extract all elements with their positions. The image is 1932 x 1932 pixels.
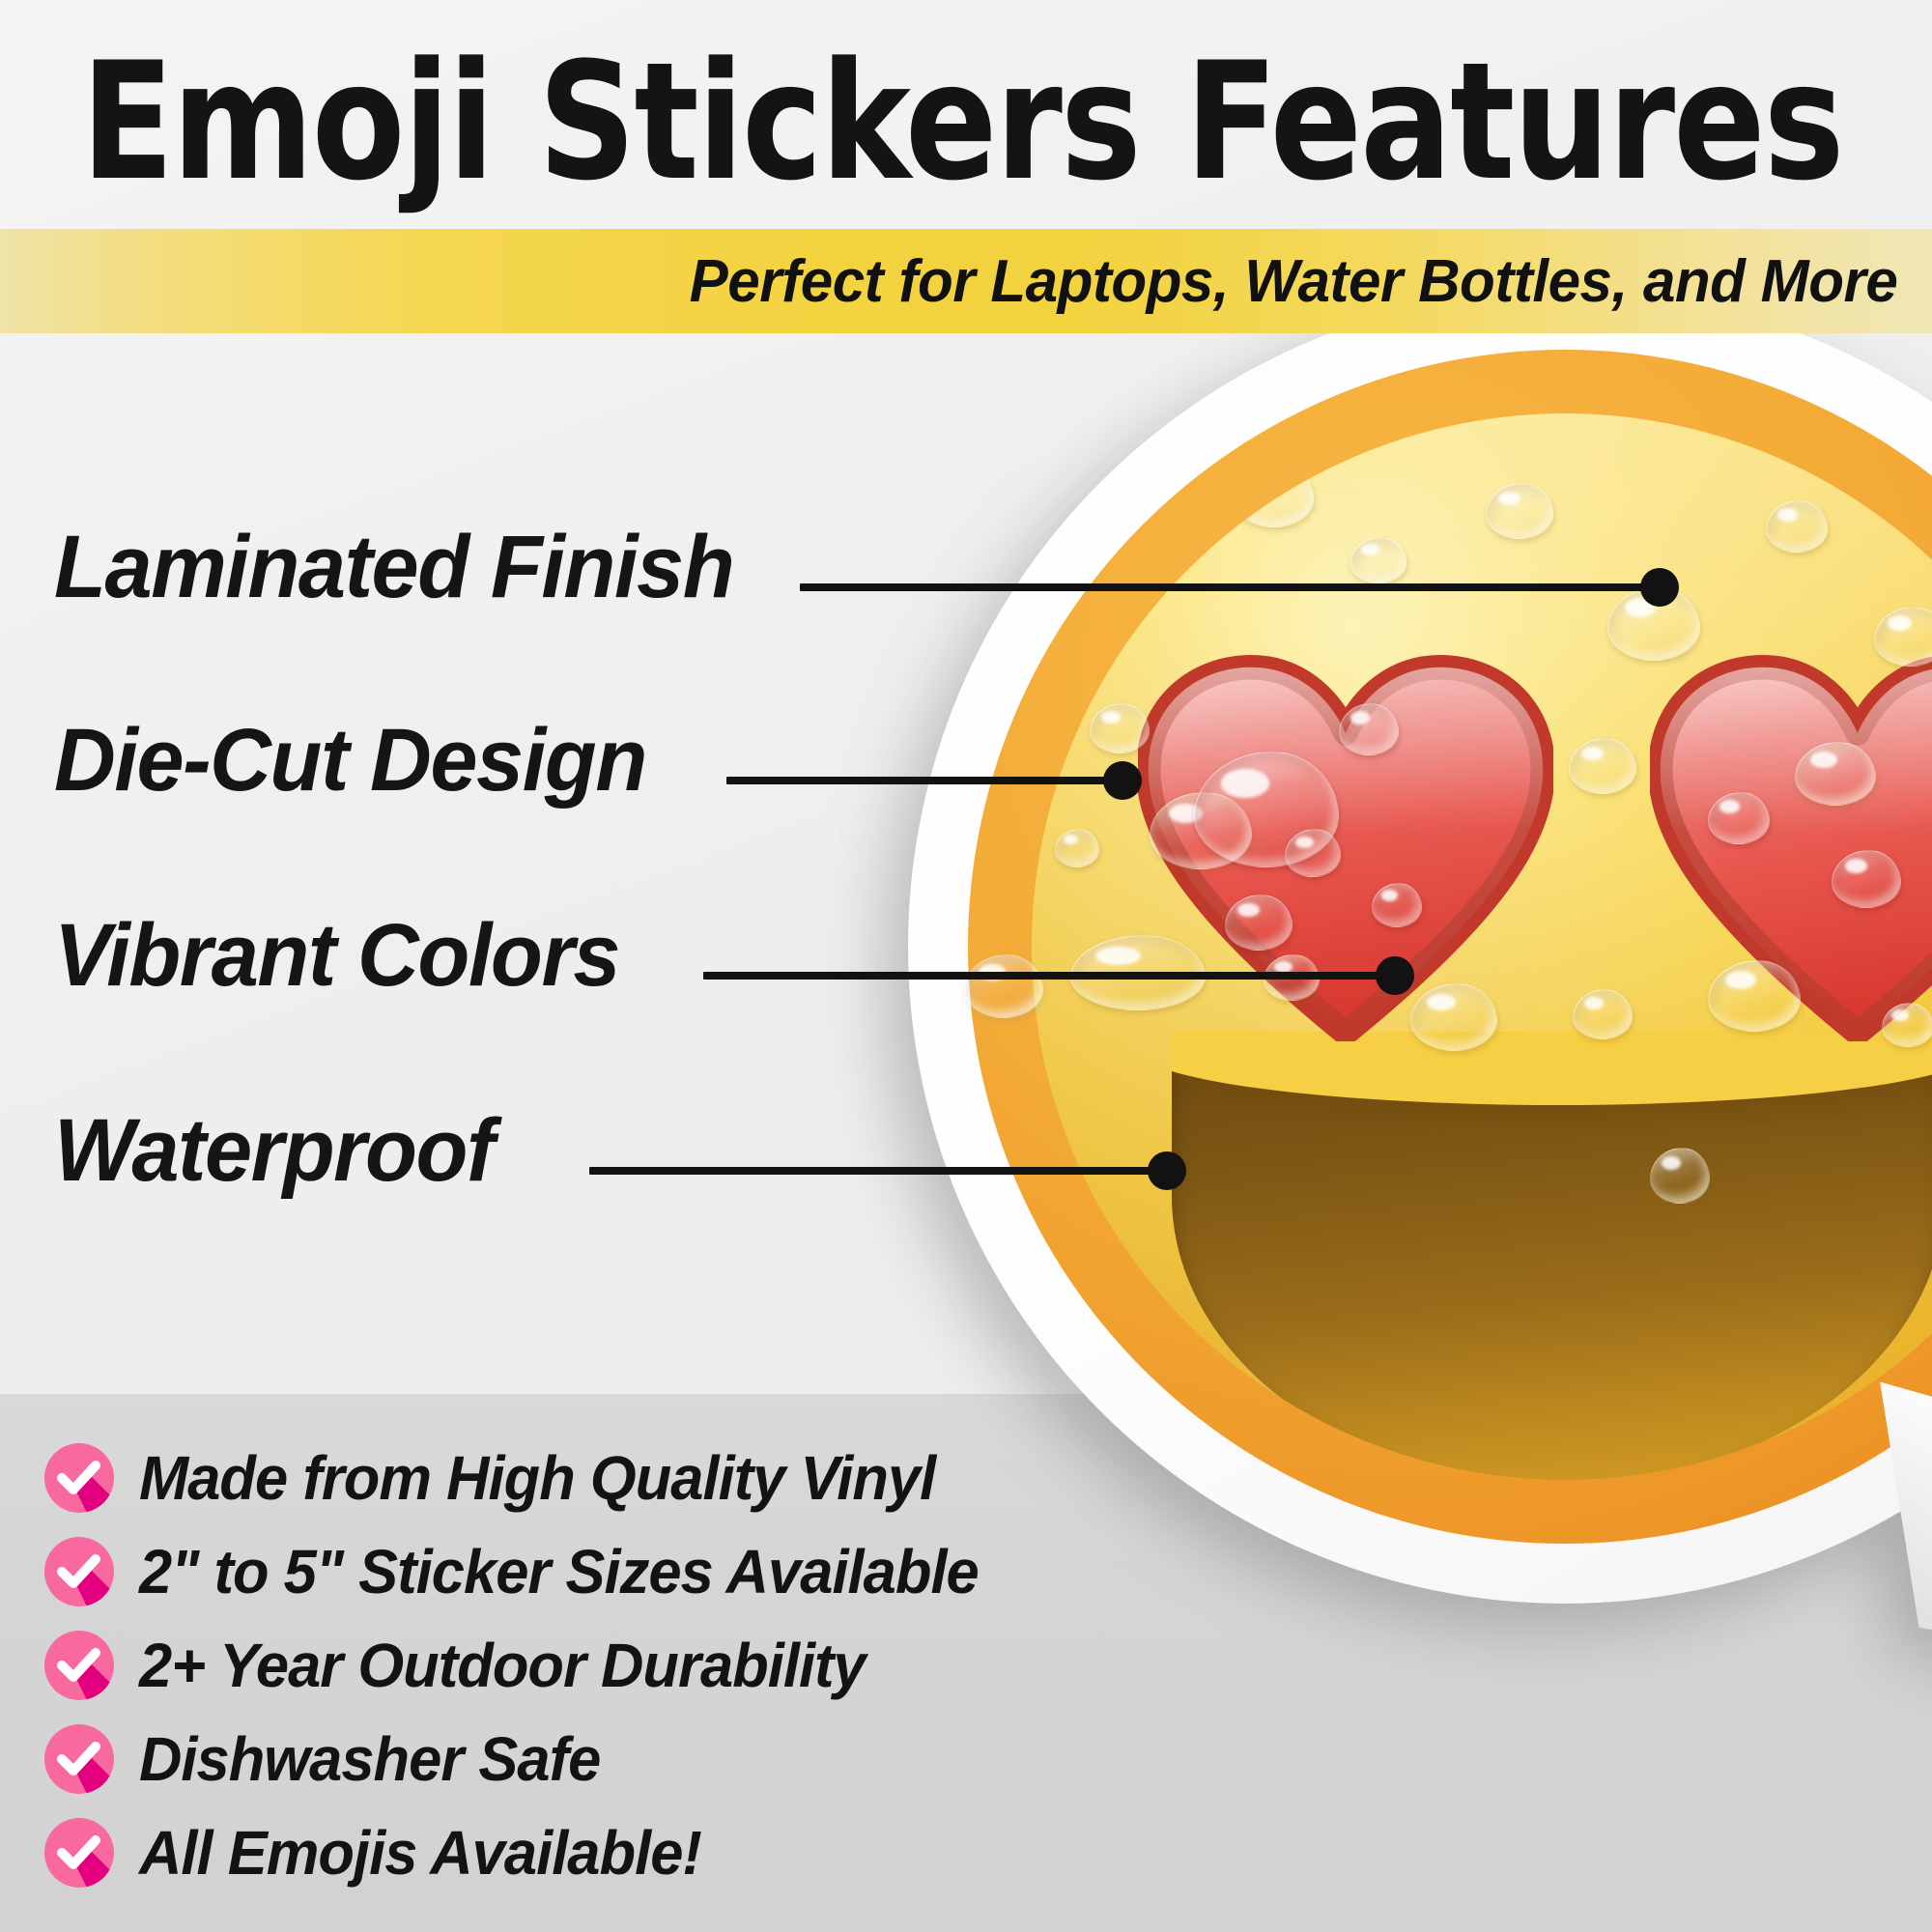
water-droplet — [1235, 464, 1314, 527]
water-droplet — [1708, 960, 1801, 1032]
checklist-item-label: Dishwasher Safe — [139, 1723, 600, 1795]
leader-line-endpoint-dot — [1376, 956, 1414, 995]
checklist-item: All Emojis Available! — [44, 1812, 724, 1893]
check-circle-icon — [44, 1443, 114, 1513]
water-droplet — [1055, 829, 1099, 867]
feature-callout-label: Laminated Finish — [54, 517, 733, 618]
water-droplet — [1795, 742, 1876, 806]
water-droplet — [1285, 829, 1341, 877]
water-droplet — [1573, 989, 1633, 1039]
infographic-canvas: Emoji Stickers Features Perfect for Lapt… — [0, 0, 1932, 1932]
checklist-item-label: 2+ Year Outdoor Durability — [139, 1630, 866, 1701]
checklist-item: 2+ Year Outdoor Durability — [44, 1625, 895, 1706]
water-droplet — [1882, 1003, 1932, 1047]
page-title: Emoji Stickers Features — [81, 35, 1752, 209]
leader-line — [726, 777, 1119, 784]
heart-eyes-emoji-sticker — [908, 290, 1932, 1797]
water-droplet — [1090, 703, 1150, 753]
check-circle-icon — [44, 1537, 114, 1606]
water-droplet — [1372, 883, 1422, 927]
subtitle-band: Perfect for Laptops, Water Bottles, and … — [0, 229, 1932, 333]
leader-line — [589, 1167, 1163, 1175]
feature-callout-label: Vibrant Colors — [54, 905, 619, 1007]
water-droplet — [1410, 983, 1497, 1051]
water-droplet — [1350, 537, 1406, 583]
feature-callout-label: Waterproof — [54, 1100, 494, 1202]
leader-line-endpoint-dot — [1103, 761, 1142, 800]
leader-line — [703, 972, 1391, 980]
leader-line-endpoint-dot — [1640, 568, 1679, 607]
page-subtitle: Perfect for Laptops, Water Bottles, and … — [689, 229, 1897, 333]
checklist-item: Dishwasher Safe — [44, 1719, 619, 1800]
leader-line-endpoint-dot — [1148, 1151, 1186, 1190]
water-droplet — [1766, 500, 1828, 553]
water-droplet — [1832, 850, 1901, 908]
water-droplet — [1486, 483, 1553, 539]
water-droplet — [1225, 895, 1293, 951]
check-circle-icon — [44, 1724, 114, 1794]
water-droplet — [1650, 1148, 1710, 1204]
checklist-item-label: All Emojis Available! — [139, 1817, 701, 1889]
water-droplet — [964, 954, 1043, 1018]
leader-line — [800, 583, 1656, 591]
water-droplet — [1708, 792, 1770, 844]
check-circle-icon — [44, 1631, 114, 1700]
checklist-item-label: 2" to 5" Sticker Sizes Available — [139, 1536, 979, 1607]
water-droplet — [1569, 738, 1636, 794]
check-circle-icon — [44, 1818, 114, 1888]
feature-callout-label: Die-Cut Design — [54, 710, 646, 811]
checklist-item: 2" to 5" Sticker Sizes Available — [44, 1531, 1013, 1612]
checklist-item-label: Made from High Quality Vinyl — [139, 1442, 935, 1514]
water-droplet — [1339, 703, 1399, 755]
checklist-item: Made from High Quality Vinyl — [44, 1437, 969, 1519]
